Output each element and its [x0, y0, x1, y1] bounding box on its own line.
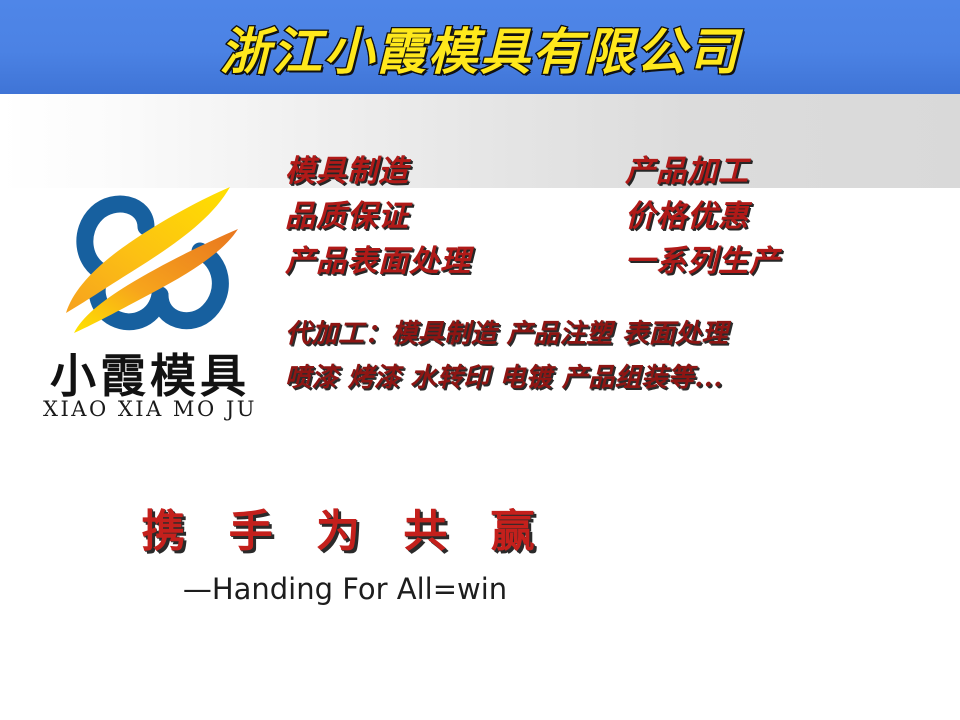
slogan-chinese: 携 手 为 共 赢: [0, 495, 960, 559]
slide-canvas: 浙江小霞模具有限公司: [0, 0, 960, 720]
company-logo: 小霞模具 XIAO XIA MO JU: [20, 185, 280, 440]
service-item: 价格优惠: [625, 194, 780, 239]
background-gradient-band: [0, 94, 960, 188]
header-banner: 浙江小霞模具有限公司: [0, 0, 960, 94]
outsourcing-line: 喷漆 烤漆 水转印 电镀 产品组装等...: [285, 356, 728, 400]
services-right-column: 产品加工 价格优惠 一系列生产: [625, 149, 780, 284]
service-item: 一系列生产: [625, 239, 780, 284]
wing-infinity-icon: [52, 185, 252, 340]
service-item: 产品加工: [625, 149, 780, 194]
service-item: 产品表面处理: [285, 239, 471, 284]
services-left-column: 模具制造 品质保证 产品表面处理: [285, 149, 471, 284]
service-item: 模具制造: [285, 149, 471, 194]
outsourcing-services-block: 代加工：模具制造 产品注塑 表面处理 喷漆 烤漆 水转印 电镀 产品组装等...: [285, 312, 728, 400]
service-item: 品质保证: [285, 194, 471, 239]
slogan-english: —Handing For All=win: [0, 572, 960, 606]
outsourcing-line: 代加工：模具制造 产品注塑 表面处理: [285, 312, 728, 356]
page-title: 浙江小霞模具有限公司: [0, 12, 960, 84]
logo-pinyin: XIAO XIA MO JU: [20, 397, 280, 421]
